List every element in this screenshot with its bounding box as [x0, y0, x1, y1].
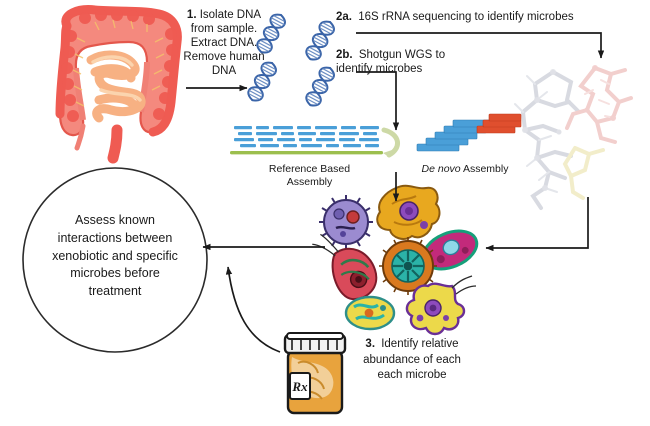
step-3-line-3: each microbe — [377, 369, 446, 381]
step-3-line-1: Identify relative — [378, 338, 459, 350]
denovo-assembly-label: De novo Assembly — [405, 163, 525, 176]
conclusion-line-1: Assess known — [75, 213, 155, 227]
conclusion-line-5: treatment — [89, 284, 142, 298]
workflow-diagram: Rx 1. Isolate DNAfro — [0, 0, 650, 426]
conclusion-line-3: xenobiotic and specific — [52, 249, 178, 263]
step-2a-number: 2a. — [336, 11, 352, 23]
step-3-label: 3. Identify relative abundance of each e… — [352, 337, 472, 384]
conclusion-circle-text: Assess known interactions between xenobi… — [36, 212, 194, 301]
step-3-number: 3. — [365, 338, 375, 350]
reference-assembly-line-2: Assembly — [287, 176, 333, 188]
step-1-number: 1. — [187, 9, 197, 21]
microbe-teal-radial — [379, 237, 437, 295]
step-2a-label: 2a. 16S rRNA sequencing to identify micr… — [336, 10, 574, 24]
conclusion-line-4: microbes before — [70, 266, 160, 280]
microbe-magenta — [395, 224, 485, 292]
step-2b-label: 2b. Shotgun WGS to identify microbes — [336, 48, 466, 76]
step-1-line-3: Extract DNA. — [191, 37, 257, 49]
microbe-orange-amoeba — [377, 186, 439, 239]
microbe-yellow-oval — [346, 297, 394, 329]
denovo-rest: Assembly — [461, 163, 509, 175]
step-1-line-1: 1. Isolate DNA — [187, 9, 261, 21]
step-1-line-4: Remove human — [183, 51, 264, 63]
step-1-label: 1. Isolate DNAfrom sample.Extract DNA.Re… — [178, 8, 270, 78]
step-2a-text: 16S rRNA sequencing to identify microbes — [358, 11, 573, 23]
microbe-purple — [319, 195, 373, 249]
microbe-red — [311, 225, 381, 306]
step-2b-text: Shotgun WGS to identify microbes — [336, 49, 445, 75]
arrow-pill-to-circle — [228, 267, 280, 352]
step-3-line-2: abundance of each — [363, 354, 461, 366]
pill-bottle-rx-label: Rx — [291, 379, 308, 394]
step-2b-number: 2b. — [336, 49, 353, 61]
step-1-line-2: from sample. — [191, 23, 257, 35]
denovo-italic: De novo — [422, 163, 461, 175]
microbe-yellow-star — [407, 276, 476, 334]
step-1-line-5: DNA — [212, 65, 236, 77]
conclusion-line-2: interactions between — [58, 231, 173, 245]
arrow-rna-to-microbes — [486, 197, 588, 248]
reference-assembly-label: Reference Based Assembly — [247, 163, 372, 189]
arrow-step2b — [356, 72, 396, 130]
reference-assembly-line-1: Reference Based — [269, 163, 350, 175]
